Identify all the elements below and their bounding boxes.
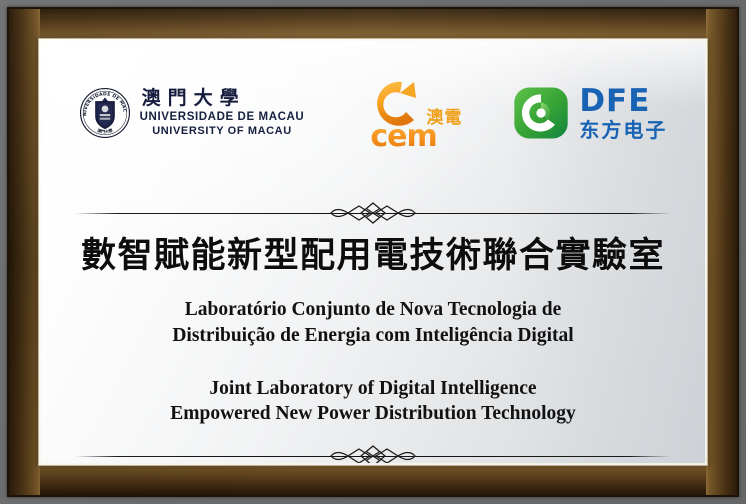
- title-block: 數智賦能新型配用電技術聯合實驗室 Laboratório Conjunto de…: [41, 236, 705, 427]
- certificate-panel: UNIVERSIDADE DE MACAU 澳門大學: [41, 41, 705, 463]
- ornament-divider-bottom: [75, 441, 671, 463]
- diamond-knot-icon: [321, 442, 425, 463]
- title-portuguese-line2: Distribuição de Energia com Inteligência…: [41, 323, 705, 348]
- dfe-wordmark-group: DFE 东方电子: [579, 86, 667, 140]
- frame-side-right: [706, 9, 737, 495]
- frame-side-left: [9, 9, 40, 495]
- logo-row: UNIVERSIDADE DE MACAU 澳門大學: [41, 65, 705, 161]
- um-chinese-name: 澳門大學: [142, 89, 305, 108]
- um-english-name: UNIVERSITY OF MACAU: [140, 126, 305, 137]
- logo-cem: 澳電 cem: [356, 76, 460, 150]
- cem-wordmark: cem: [370, 122, 436, 152]
- um-portuguese-name: UNIVERSIDADE DE MACAU: [140, 112, 305, 124]
- ornament-divider-top: [75, 198, 671, 228]
- title-portuguese-line1: Laboratório Conjunto de Nova Tecnologia …: [41, 297, 705, 322]
- dfe-chinese-name: 东方电子: [579, 120, 667, 140]
- logo-dfe: DFE 东方电子: [512, 84, 667, 142]
- title-chinese: 數智賦能新型配用電技術聯合實驗室: [41, 236, 705, 275]
- dfe-wordmark: DFE: [579, 86, 667, 117]
- title-portuguese: Laboratório Conjunto de Nova Tecnologia …: [41, 297, 705, 348]
- plaque-inner-lip: UNIVERSIDADE DE MACAU 澳門大學: [38, 38, 708, 466]
- um-crest-icon: UNIVERSIDADE DE MACAU 澳門大學: [79, 87, 131, 139]
- diamond-knot-icon: [321, 199, 425, 227]
- title-english-line1: Joint Laboratory of Digital Intelligence: [41, 376, 705, 401]
- um-wordmark: 澳門大學 UNIVERSIDADE DE MACAU UNIVERSITY OF…: [140, 89, 305, 137]
- logo-university-of-macau: UNIVERSIDADE DE MACAU 澳門大學: [79, 87, 305, 139]
- dfe-mark-icon: [512, 84, 570, 142]
- title-english: Joint Laboratory of Digital Intelligence…: [41, 376, 705, 427]
- plaque-stage: UNIVERSIDADE DE MACAU 澳門大學: [0, 0, 746, 504]
- title-english-line2: Empowered New Power Distribution Technol…: [41, 401, 705, 426]
